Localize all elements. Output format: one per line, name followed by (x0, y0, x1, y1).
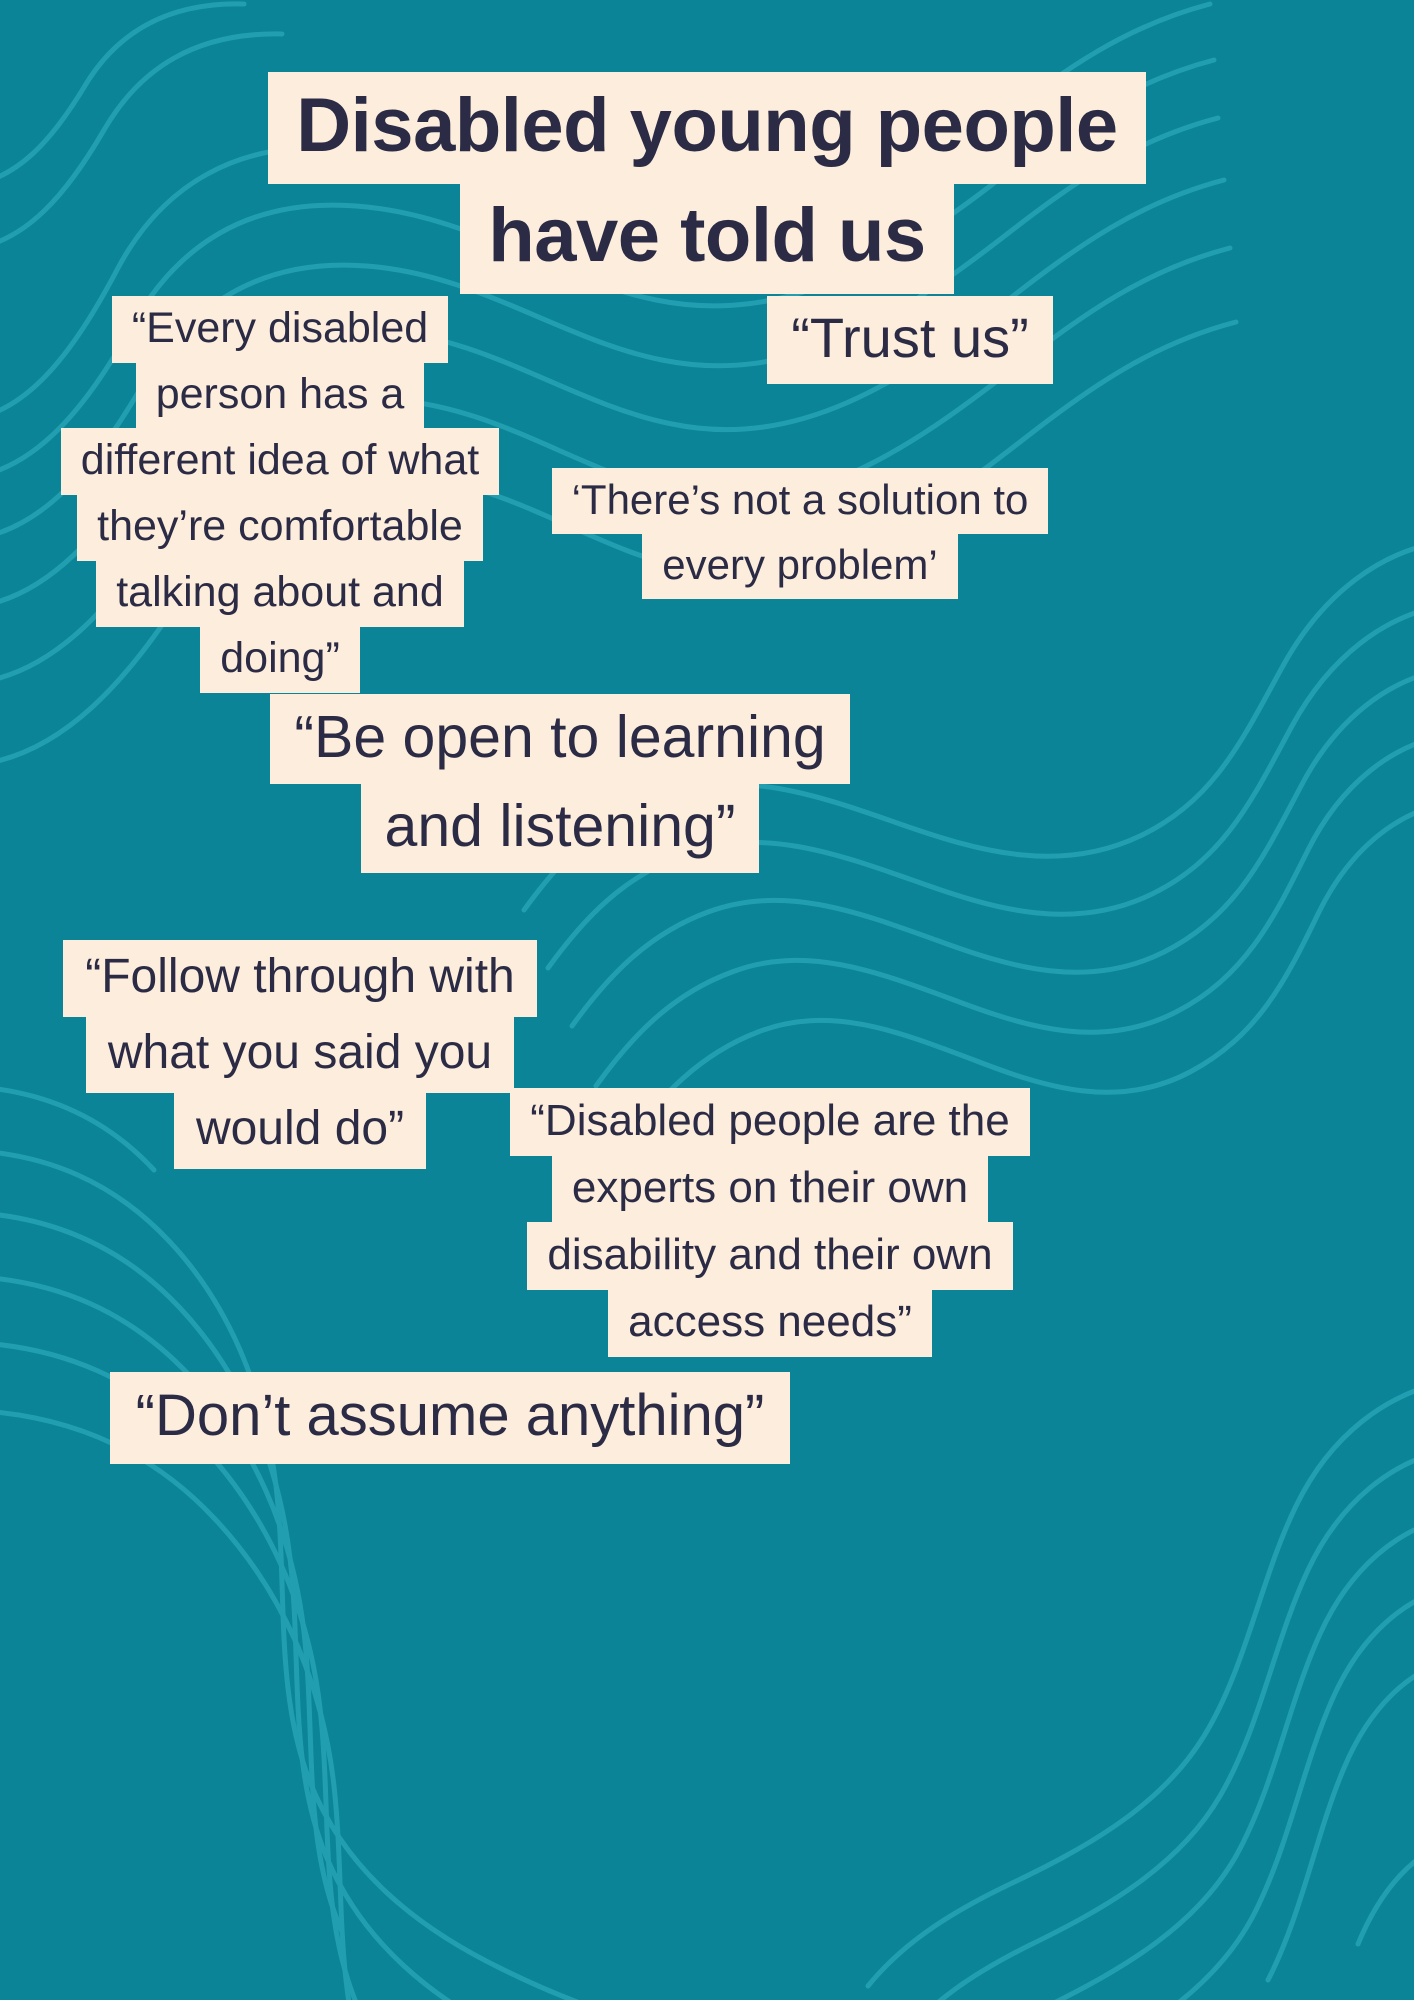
quote-line: every problem’ (642, 533, 957, 599)
quote-line: what you said you (86, 1016, 514, 1093)
quote-line: doing” (200, 626, 360, 693)
quote-no-solution-to-every-problem: ‘There’s not a solution to every problem… (520, 468, 1080, 599)
page-title: Disabled young people have told us (0, 72, 1414, 294)
quote-trust-us: “Trust us” (700, 296, 1120, 384)
quote-line: “Trust us” (767, 296, 1052, 384)
quote-be-open-to-learning: “Be open to learning and listening” (200, 694, 920, 873)
quote-line: would do” (174, 1092, 426, 1169)
quote-line: “Follow through with (63, 940, 537, 1017)
quote-line: talking about and (96, 560, 464, 627)
quote-every-disabled-person: “Every disabled person has a different i… (0, 296, 560, 693)
page-title-line: have told us (460, 182, 953, 294)
quote-line: access needs” (608, 1289, 932, 1357)
quote-line: ‘There’s not a solution to (552, 468, 1049, 534)
quote-line: “Don’t assume anything” (110, 1372, 791, 1464)
quote-dont-assume-anything: “Don’t assume anything” (0, 1372, 900, 1464)
quote-line: experts on their own (552, 1155, 988, 1223)
poster-content: Disabled young people have told us “Ever… (0, 0, 1414, 2000)
quote-line: different idea of what (61, 428, 499, 495)
page-title-line: Disabled young people (268, 72, 1145, 184)
quote-line: person has a (136, 362, 425, 429)
quote-line: “Every disabled (112, 296, 448, 363)
quote-line: disability and their own (527, 1222, 1012, 1290)
quote-line: “Disabled people are the (510, 1088, 1029, 1156)
quote-line: “Be open to learning (270, 694, 849, 784)
quote-line: and listening” (361, 783, 760, 873)
quote-line: they’re comfortable (77, 494, 483, 561)
quote-disabled-people-are-experts: “Disabled people are the experts on thei… (480, 1088, 1060, 1357)
